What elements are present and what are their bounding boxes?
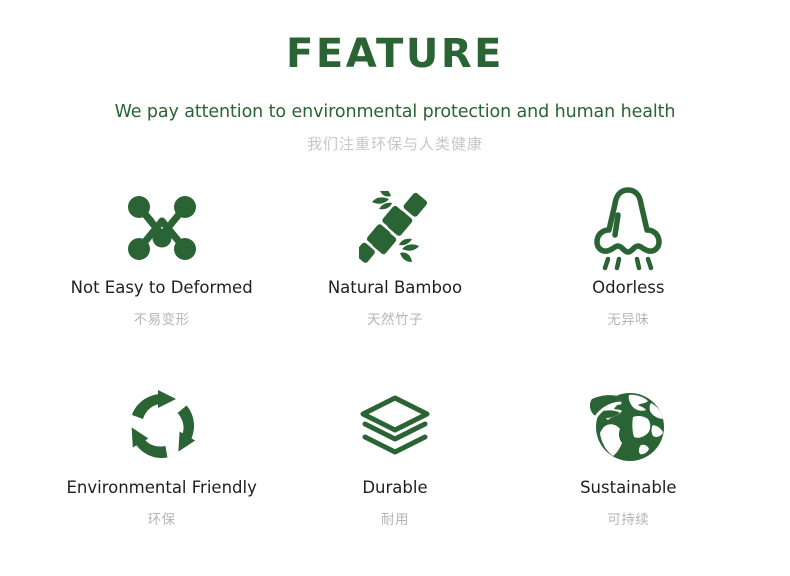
feature-label: Natural Bamboo — [328, 278, 462, 297]
feature-label: Sustainable — [580, 478, 676, 497]
feature-item-odorless: Odorless 无异味 — [512, 182, 745, 378]
feature-item-natural-bamboo: Natural Bamboo 天然竹子 — [278, 182, 511, 378]
feature-label-chinese: 耐用 — [381, 508, 409, 528]
feature-label: Not Easy to Deformed — [71, 278, 253, 297]
feature-label-chinese: 天然竹子 — [367, 308, 423, 328]
feature-label-chinese: 可持续 — [607, 508, 649, 528]
bamboo-icon — [359, 182, 431, 274]
feature-section: FEATURE We pay attention to environmenta… — [0, 0, 790, 576]
feature-label: Environmental Friendly — [66, 478, 256, 497]
feature-label-chinese: 无异味 — [607, 308, 649, 328]
nose-icon — [592, 182, 664, 274]
feature-label: Durable — [362, 478, 427, 497]
layers-icon — [359, 378, 431, 474]
globe-leaf-icon — [589, 378, 667, 474]
section-header: FEATURE We pay attention to environmenta… — [0, 0, 790, 154]
subtitle-chinese: 我们注重环保与人类健康 — [0, 133, 790, 154]
feature-label: Odorless — [592, 278, 664, 297]
recycle-icon — [124, 378, 200, 474]
features-grid: Not Easy to Deformed 不易变形 — [45, 182, 745, 574]
feature-item-environmental-friendly: Environmental Friendly 环保 — [45, 378, 278, 574]
molecule-network-icon — [127, 182, 197, 274]
feature-item-sustainable: Sustainable 可持续 — [512, 378, 745, 574]
feature-label-chinese: 不易变形 — [134, 308, 190, 328]
feature-item-durable: Durable 耐用 — [278, 378, 511, 574]
page-title: FEATURE — [0, 34, 790, 74]
feature-label-chinese: 环保 — [148, 508, 176, 528]
subtitle-english: We pay attention to environmental protec… — [0, 102, 790, 122]
feature-item-not-easy-to-deformed: Not Easy to Deformed 不易变形 — [45, 182, 278, 378]
